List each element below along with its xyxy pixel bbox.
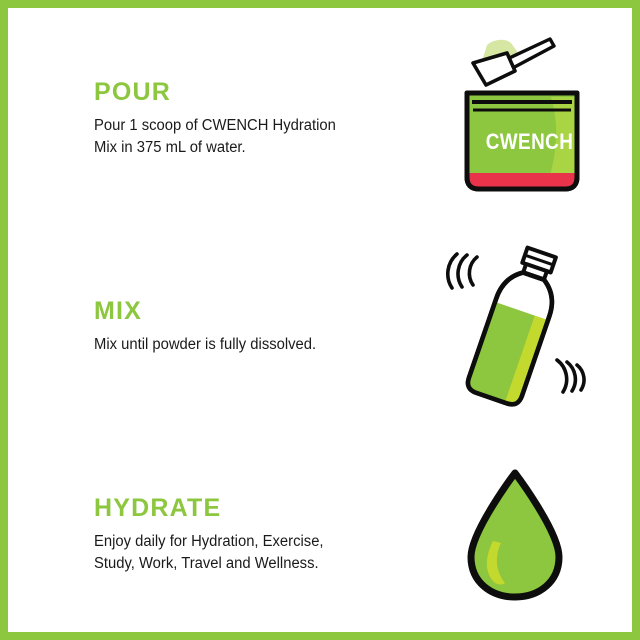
step-mix-description: Mix until powder is fully dissolved. xyxy=(94,334,381,356)
shaking-bottle-icon xyxy=(435,242,595,412)
step-mix-title: MIX xyxy=(94,299,394,324)
step-pour-text: POUR Pour 1 scoop of CWENCH Hydration Mi… xyxy=(94,80,394,159)
water-droplet-icon xyxy=(455,465,575,605)
step-mix-text: MIX Mix until powder is fully dissolved. xyxy=(94,299,394,356)
step-hydrate-text: HYDRATE Enjoy daily for Hydration, Exerc… xyxy=(94,496,394,575)
bottle-liquid-icon xyxy=(459,301,552,416)
scoop-bowl-icon xyxy=(473,53,515,85)
step-hydrate: HYDRATE Enjoy daily for Hydration, Exerc… xyxy=(8,438,632,632)
instructions-poster: POUR Pour 1 scoop of CWENCH Hydration Mi… xyxy=(0,0,640,640)
jar-base-band-icon xyxy=(469,173,575,187)
bottle-group xyxy=(459,242,572,416)
droplet-body-icon xyxy=(471,473,559,597)
step-hydrate-art xyxy=(394,438,610,632)
step-hydrate-title: HYDRATE xyxy=(94,496,394,521)
steps-list: POUR Pour 1 scoop of CWENCH Hydration Mi… xyxy=(8,8,632,632)
step-mix: MIX Mix until powder is fully dissolved. xyxy=(8,230,632,424)
step-hydrate-description: Enjoy daily for Hydration, Exercise, Stu… xyxy=(94,531,381,575)
motion-lines-right-icon xyxy=(557,360,584,392)
step-pour-art: CWENCH xyxy=(394,22,610,216)
jar-brand-label: CWENCH xyxy=(486,129,574,154)
step-pour-description: Pour 1 scoop of CWENCH Hydration Mix in … xyxy=(94,115,381,159)
step-pour: POUR Pour 1 scoop of CWENCH Hydration Mi… xyxy=(8,22,632,216)
jar-with-scoop-icon: CWENCH xyxy=(447,37,597,202)
motion-lines-left-icon xyxy=(448,254,477,288)
step-mix-art xyxy=(394,230,610,424)
step-pour-title: POUR xyxy=(94,80,394,105)
